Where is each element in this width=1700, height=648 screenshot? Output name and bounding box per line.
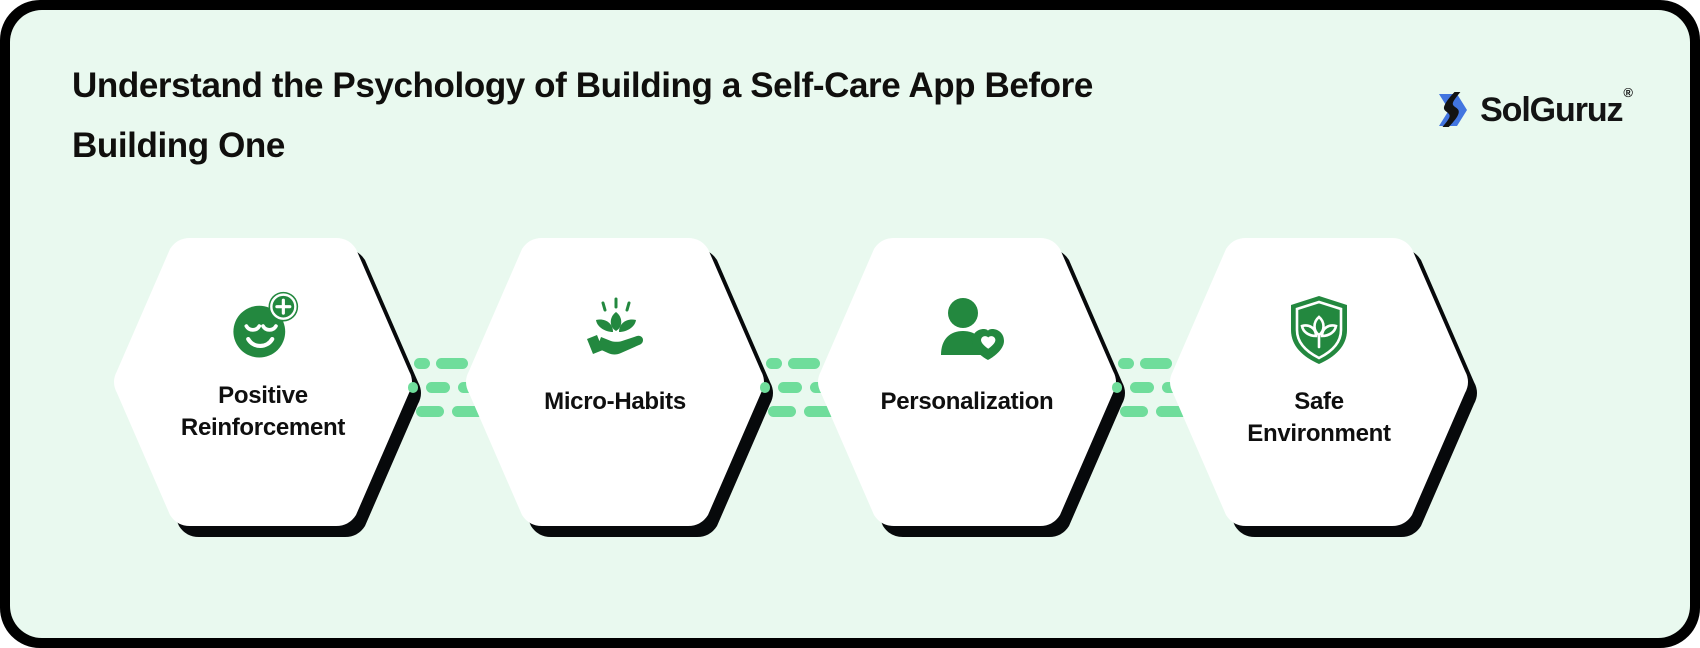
step-label-line-2: Reinforcement: [181, 414, 345, 441]
page-title: Understand the Psychology of Building a …: [72, 56, 1302, 176]
step-label: Micro-Habits: [490, 386, 740, 418]
registered-trademark-icon: ®: [1623, 85, 1633, 100]
hand-plant-icon: [575, 290, 655, 370]
step-label-line-1: Micro-Habits: [544, 388, 686, 415]
process-steps-row: Positive Reinforcement: [10, 232, 1690, 532]
step-card-personalization[interactable]: Personalization: [817, 232, 1117, 532]
step-label: Positive Reinforcement: [138, 380, 388, 444]
infographic-frame: Understand the Psychology of Building a …: [0, 0, 1700, 648]
person-heart-icon: [927, 290, 1007, 370]
step-label-line-1: Safe: [1294, 388, 1344, 415]
step-label: Personalization: [842, 386, 1092, 418]
infographic-canvas: Understand the Psychology of Building a …: [10, 10, 1690, 638]
solguruz-logo: SolGuruz®: [1427, 87, 1632, 133]
solguruz-logo-mark-icon: [1427, 87, 1473, 133]
solguruz-logo-text: SolGuruz: [1480, 91, 1622, 129]
page-title-line-2: Building One: [72, 116, 1302, 176]
step-card-safe-environment[interactable]: Safe Environment: [1169, 232, 1469, 532]
step-content: Micro-Habits: [465, 232, 765, 532]
solguruz-logo-wordmark: SolGuruz®: [1480, 93, 1632, 127]
step-label-line-1: Positive: [218, 382, 308, 409]
step-label: Safe Environment: [1194, 386, 1444, 450]
step-card-micro-habits[interactable]: Micro-Habits: [465, 232, 765, 532]
shield-leaf-icon: [1279, 290, 1359, 370]
step-label-line-1: Personalization: [881, 388, 1054, 415]
step-card-positive-reinforcement[interactable]: Positive Reinforcement: [113, 232, 413, 532]
step-content: Positive Reinforcement: [113, 232, 413, 532]
page-title-line-1: Understand the Psychology of Building a …: [72, 56, 1302, 116]
step-content: Personalization: [817, 232, 1117, 532]
step-content: Safe Environment: [1169, 232, 1469, 532]
step-label-line-2: Environment: [1247, 420, 1390, 447]
smiley-plus-icon: [226, 290, 300, 364]
